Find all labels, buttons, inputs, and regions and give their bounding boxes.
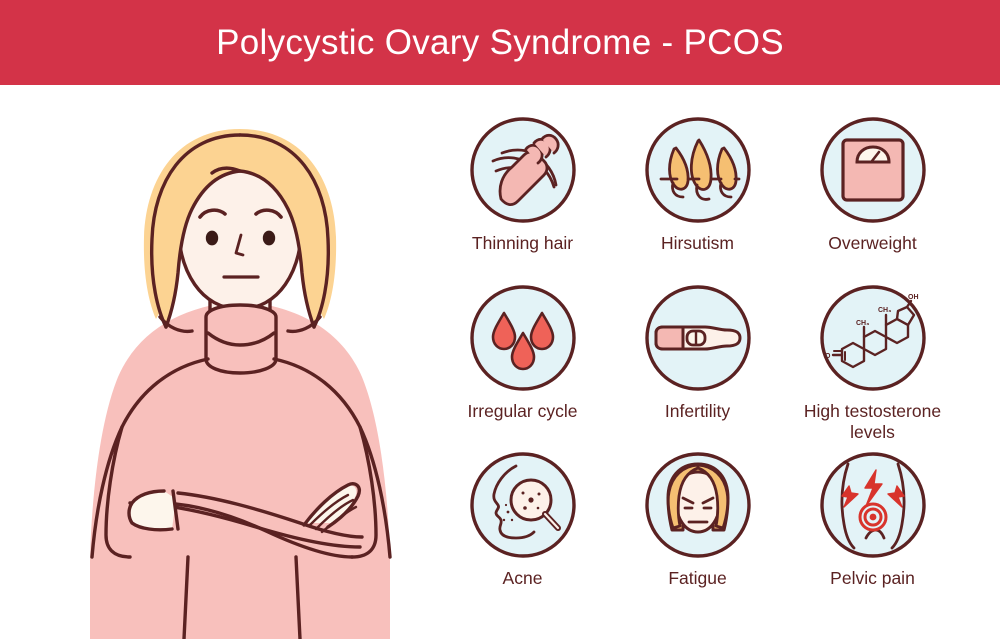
symptom-label: Pelvic pain (790, 568, 955, 589)
molecule-methyl-mid-label: CH₃ (856, 320, 869, 327)
tired-face-icon (643, 450, 753, 560)
symptom-grid: Thinning hair Hirsutism (440, 115, 960, 639)
thinning-hair-icon (468, 115, 578, 225)
symptom-item-thinning-hair[interactable]: Thinning hair (440, 115, 605, 254)
testosterone-molecule-icon: O CH₃ CH₃ OH (818, 283, 928, 393)
symptom-item-fatigue[interactable]: Fatigue (615, 450, 780, 589)
page-title: Polycystic Ovary Syndrome - PCOS (216, 23, 784, 63)
symptom-item-acne[interactable]: Acne (440, 450, 605, 589)
content-area: Thinning hair Hirsutism (0, 85, 1000, 639)
symptom-label: Infertility (615, 401, 780, 422)
hirsutism-icon (643, 115, 753, 225)
symptom-label: Fatigue (615, 568, 780, 589)
symptom-item-hirsutism[interactable]: Hirsutism (615, 115, 780, 254)
symptom-label: Irregular cycle (440, 401, 605, 422)
symptom-label: Acne (440, 568, 605, 589)
pregnancy-test-icon (643, 283, 753, 393)
blood-drops-icon (468, 283, 578, 393)
molecule-methyl-top-label: CH₃ (878, 307, 891, 314)
symptom-label: Hirsutism (615, 233, 780, 254)
symptom-label: High testosterone levels (790, 401, 955, 443)
weight-scale-icon (818, 115, 928, 225)
molecule-ketone-label: O (825, 353, 831, 360)
woman-illustration (60, 105, 420, 639)
symptom-item-high-testosterone[interactable]: O CH₃ CH₃ OH High testosterone levels (790, 283, 955, 443)
pelvic-pain-icon (818, 450, 928, 560)
acne-face-magnifier-icon (468, 450, 578, 560)
symptom-item-overweight[interactable]: Overweight (790, 115, 955, 254)
header-banner: Polycystic Ovary Syndrome - PCOS (0, 0, 1000, 85)
symptom-label: Overweight (790, 233, 955, 254)
symptom-item-pelvic-pain[interactable]: Pelvic pain (790, 450, 955, 589)
symptom-item-infertility[interactable]: Infertility (615, 283, 780, 422)
symptom-label: Thinning hair (440, 233, 605, 254)
molecule-hydroxyl-label: OH (908, 294, 919, 301)
symptom-item-irregular-cycle[interactable]: Irregular cycle (440, 283, 605, 422)
